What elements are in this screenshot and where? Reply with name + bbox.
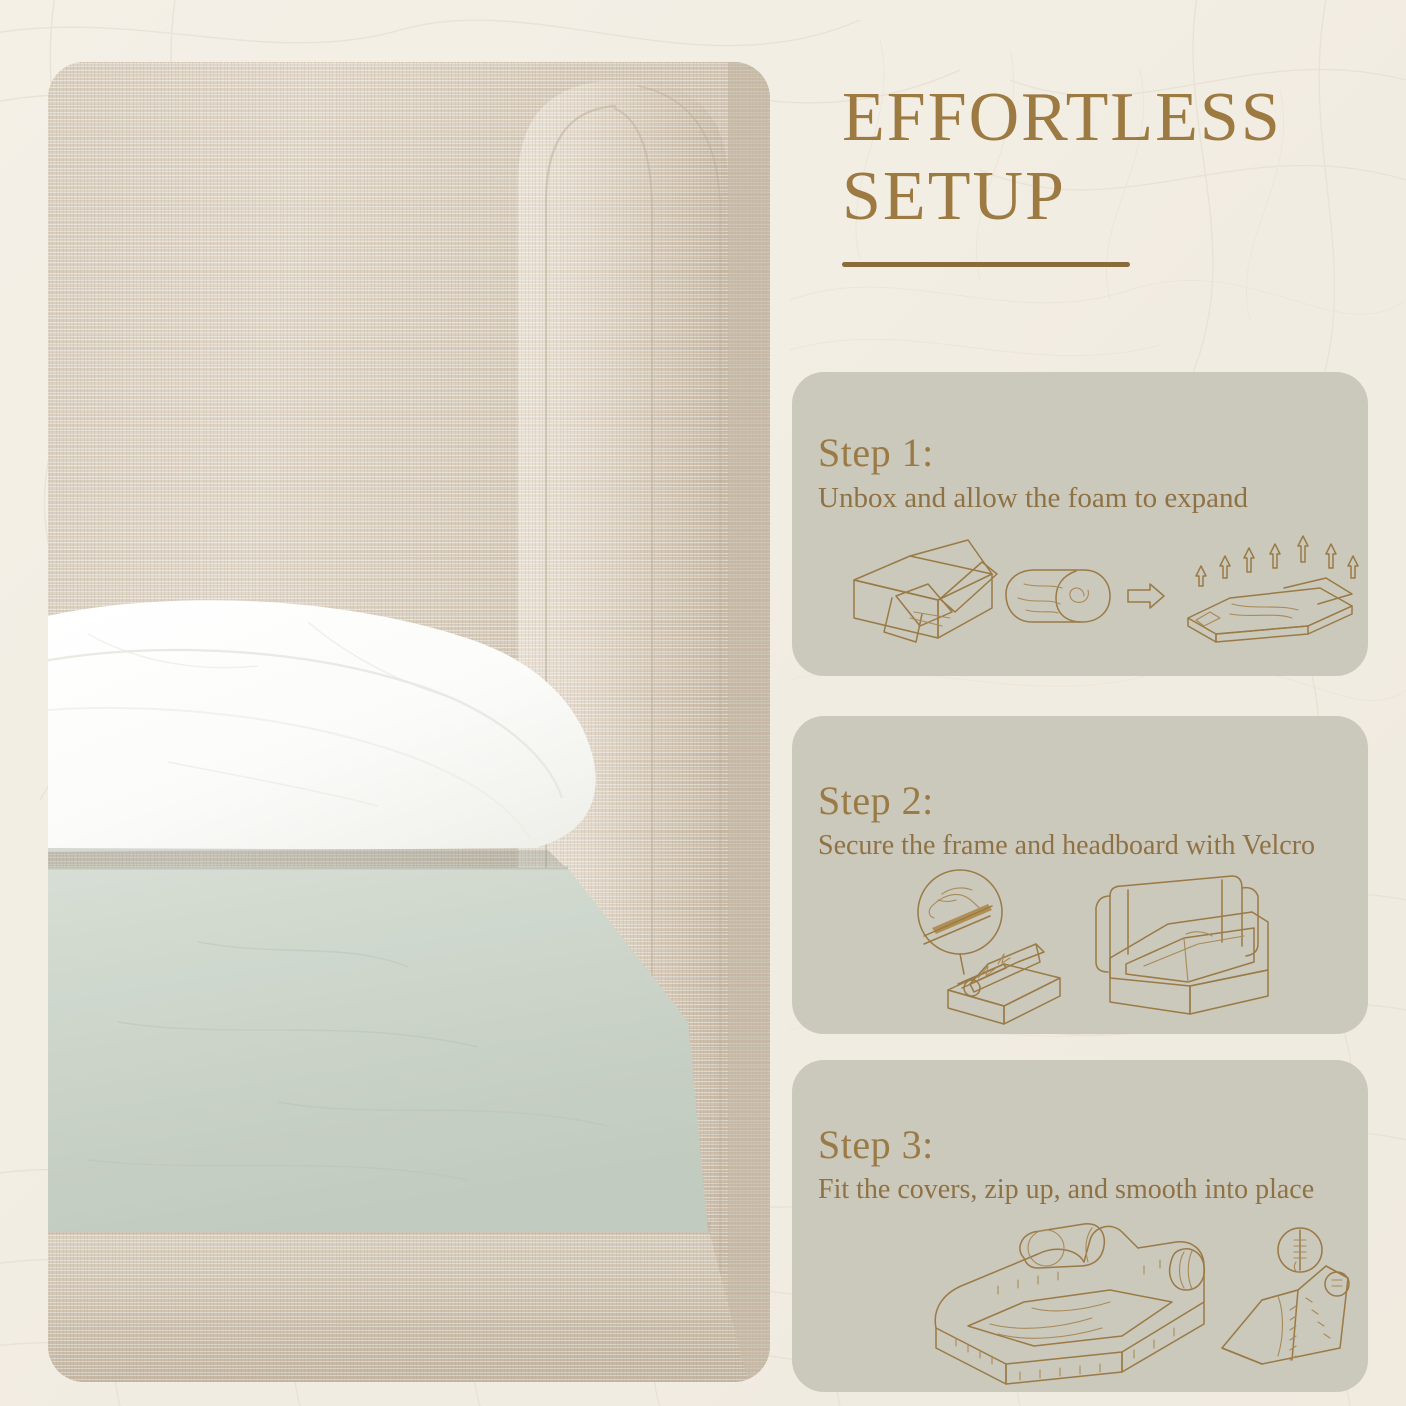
content-column: EFFORTLESS SETUP Step 1: Unbox and allow… <box>790 0 1406 1406</box>
title-divider <box>842 262 1130 267</box>
rolled-foam-icon <box>1006 570 1110 622</box>
step-2-illustration <box>792 866 1368 1026</box>
open-box-icon <box>854 540 997 642</box>
product-photo <box>48 62 770 1382</box>
step-card-3[interactable]: Step 3: Fit the covers, zip up, and smoo… <box>792 1060 1368 1392</box>
arrow-right-icon <box>1128 584 1164 608</box>
step-2-text: Step 2: Secure the frame and headboard w… <box>792 716 1368 864</box>
expansion-arrows-icon <box>1196 536 1358 586</box>
bed-base-icon <box>948 944 1060 1024</box>
step-1-description: Unbox and allow the foam to expand <box>818 480 1342 518</box>
hand-velcro-magnifier-icon <box>918 870 1002 974</box>
step-card-2[interactable]: Step 2: Secure the frame and headboard w… <box>792 716 1368 1034</box>
step-card-1[interactable]: Step 1: Unbox and allow the foam to expa… <box>792 372 1368 676</box>
expanding-mattress-icon <box>1188 578 1352 642</box>
step-1-text: Step 1: Unbox and allow the foam to expa… <box>792 372 1368 518</box>
bed-headboard-illustration <box>48 62 770 1382</box>
page-title: EFFORTLESS SETUP <box>842 78 1382 236</box>
step-2-description: Secure the frame and headboard with Velc… <box>818 828 1342 864</box>
step-3-description: Fit the covers, zip up, and smooth into … <box>818 1172 1342 1208</box>
title-block: EFFORTLESS SETUP <box>842 78 1382 267</box>
step-2-label: Step 2: <box>818 778 1342 824</box>
step-1-illustration <box>792 522 1368 652</box>
zipper-cover-icon <box>1222 1228 1349 1364</box>
step-1-label: Step 1: <box>818 430 1342 476</box>
assembled-bed-icon <box>1096 876 1268 1014</box>
covered-bed-icon <box>935 1224 1204 1384</box>
step-3-label: Step 3: <box>818 1122 1342 1168</box>
step-3-illustration <box>792 1220 1368 1388</box>
step-3-text: Step 3: Fit the covers, zip up, and smoo… <box>792 1060 1368 1208</box>
